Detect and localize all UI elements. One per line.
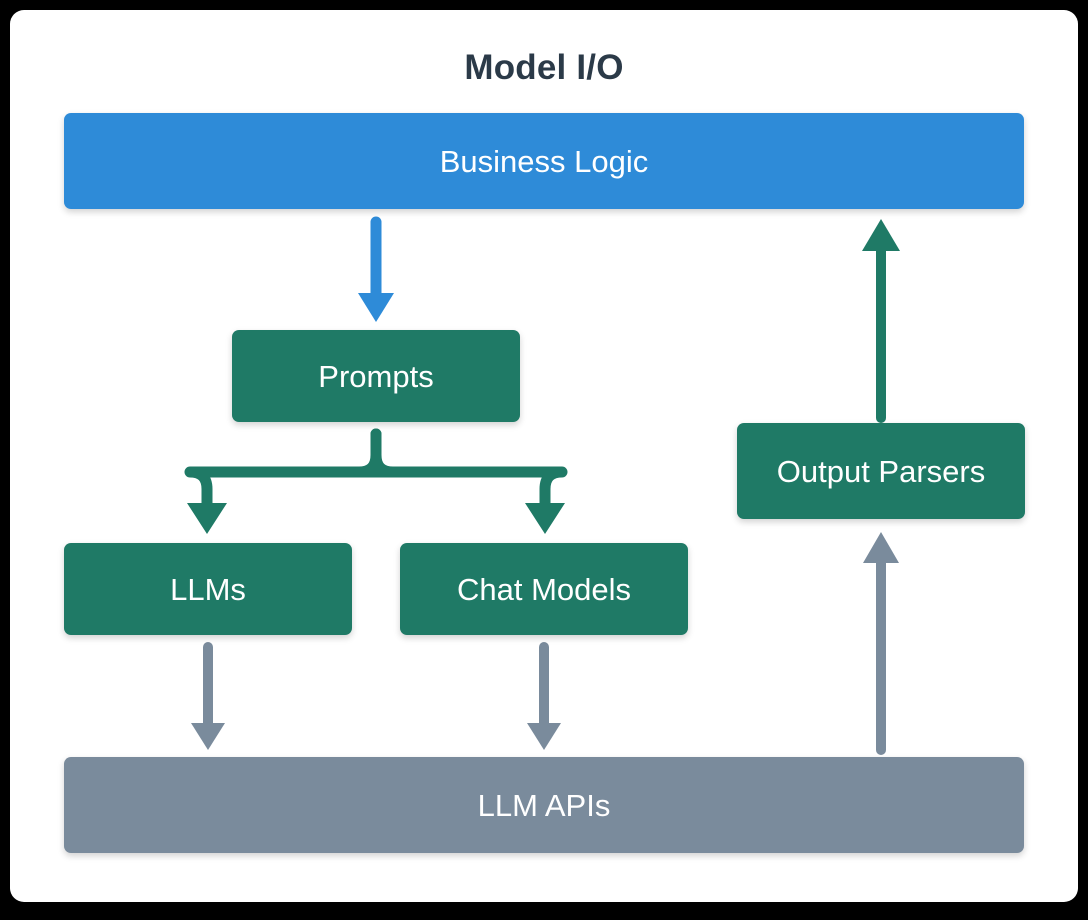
edge-llm-apis-to-output-parsers	[863, 532, 899, 750]
edge-output-parsers-to-business-logic	[862, 219, 900, 418]
node-llms-label: LLMs	[170, 574, 246, 605]
node-business-logic[interactable]: Business Logic	[64, 113, 1024, 209]
diagram-canvas: Model I/O	[0, 0, 1088, 920]
node-llms[interactable]: LLMs	[64, 543, 352, 635]
node-llm-apis-label: LLM APIs	[478, 790, 611, 821]
node-chat-models-label: Chat Models	[457, 574, 631, 605]
edge-business-logic-to-prompts	[358, 222, 394, 322]
diagram-card: Model I/O	[10, 10, 1078, 902]
node-llm-apis[interactable]: LLM APIs	[64, 757, 1024, 853]
node-chat-models[interactable]: Chat Models	[400, 543, 688, 635]
node-output-parsers-label: Output Parsers	[777, 456, 985, 487]
edge-chat-models-to-llm-apis	[527, 647, 561, 750]
node-business-logic-label: Business Logic	[440, 146, 649, 177]
node-prompts[interactable]: Prompts	[232, 330, 520, 422]
edge-prompts-branch	[187, 434, 565, 534]
edge-llms-to-llm-apis	[191, 647, 225, 750]
page-title: Model I/O	[10, 48, 1078, 88]
node-output-parsers[interactable]: Output Parsers	[737, 423, 1025, 519]
node-prompts-label: Prompts	[318, 361, 433, 392]
